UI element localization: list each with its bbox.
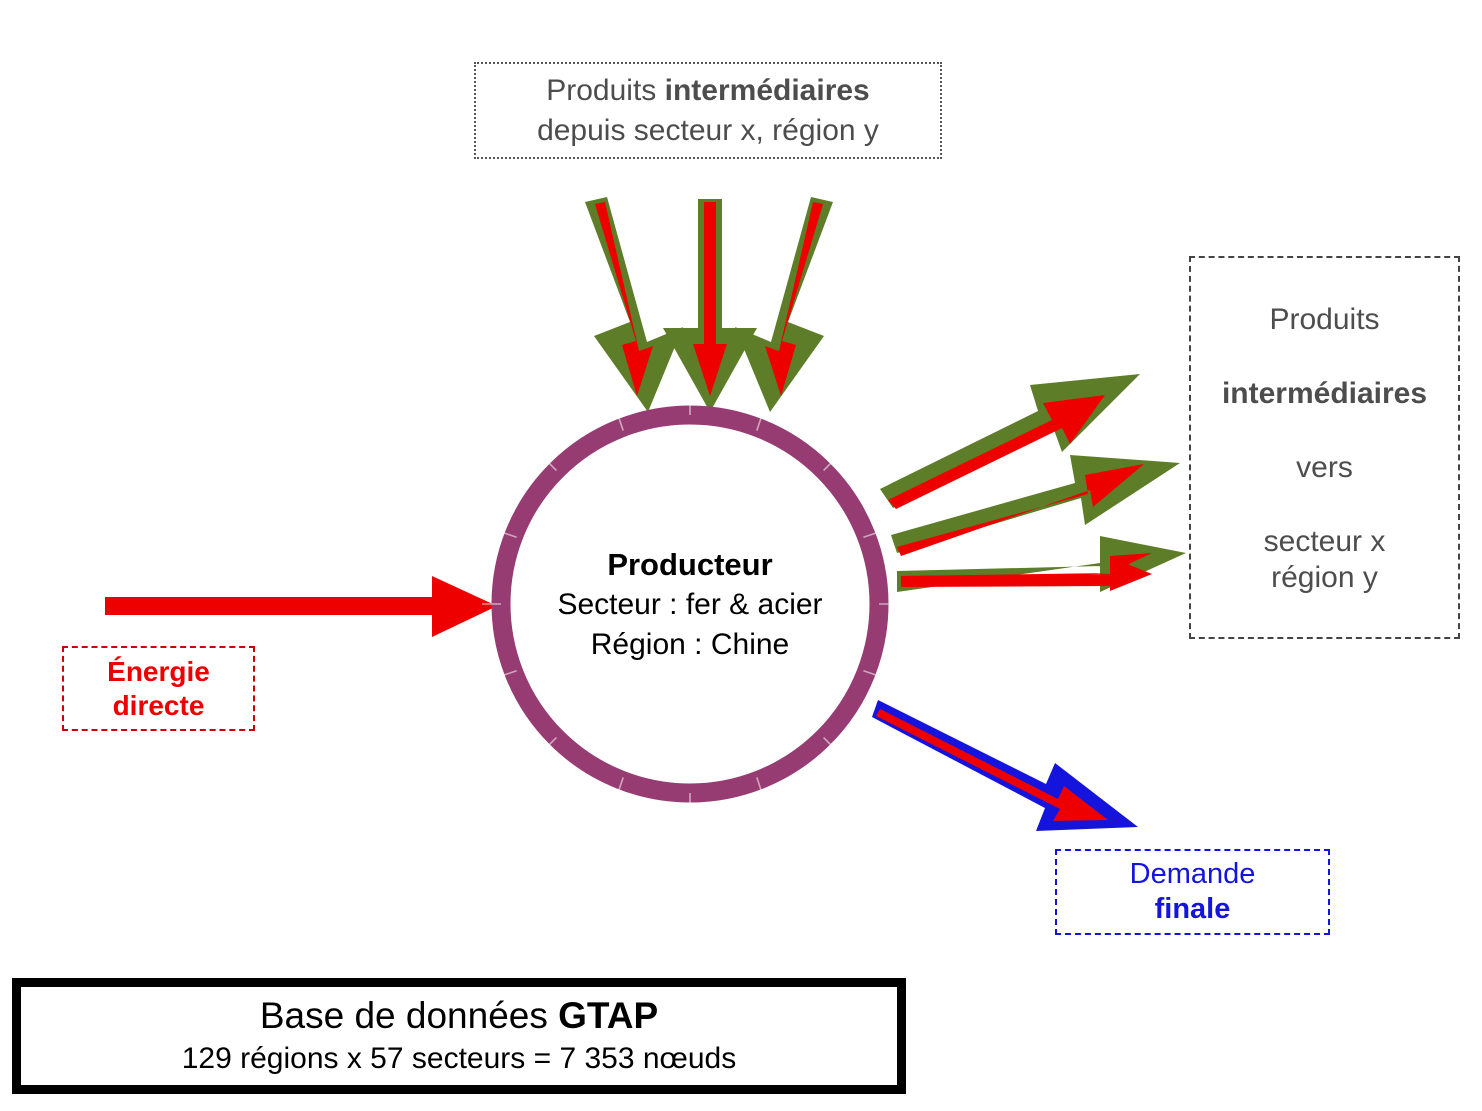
final-demand-box: Demande finale [1055, 849, 1330, 935]
intermediate-inputs-box: Produits intermédiaires depuis secteur x… [474, 62, 942, 159]
final-demand-line-2: finale [1155, 892, 1231, 927]
gtap-title-bold: GTAP [558, 995, 658, 1036]
gtap-title: Base de données GTAP [260, 993, 658, 1039]
gtap-subtitle: 129 régions x 57 secteurs = 7 353 nœuds [182, 1039, 737, 1079]
intermediate-inputs-line-1: Produits intermédiaires [546, 71, 869, 111]
gtap-database-box: Base de données GTAP 129 régions x 57 se… [12, 978, 906, 1094]
intermediate-inputs-line-1-bold: intermédiaires [665, 74, 870, 107]
producer-sector: Secteur : fer & acier [492, 585, 888, 625]
intermediate-outputs-line-3: vers [1296, 450, 1353, 486]
direct-energy-box: Énergie directe [62, 646, 255, 731]
intermediate-outputs-line-1: Produits [1269, 302, 1379, 338]
direct-energy-line-2: directe [113, 689, 205, 723]
intermediate-inputs-line-1-prefix: Produits [546, 74, 664, 107]
intermediate-outputs-line-5: région y [1271, 560, 1378, 596]
intermediate-outputs-line-2: intermédiaires [1222, 376, 1427, 412]
intermediate-inputs-line-2: depuis secteur x, région y [537, 111, 879, 151]
diagram-canvas: Producteur Secteur : fer & acier Région … [0, 0, 1482, 1111]
direct-energy-line-1: Énergie [107, 655, 210, 689]
final-demand-line-1: Demande [1130, 857, 1256, 892]
producer-title: Producteur [492, 545, 888, 585]
intermediate-outputs-box: Produits intermédiaires vers secteur x r… [1189, 256, 1460, 639]
producer-region: Région : Chine [492, 625, 888, 665]
intermediate-outputs-line-4: secteur x [1264, 524, 1386, 560]
gtap-title-prefix: Base de données [260, 995, 558, 1036]
producer-node-label: Producteur Secteur : fer & acier Région … [492, 545, 888, 665]
